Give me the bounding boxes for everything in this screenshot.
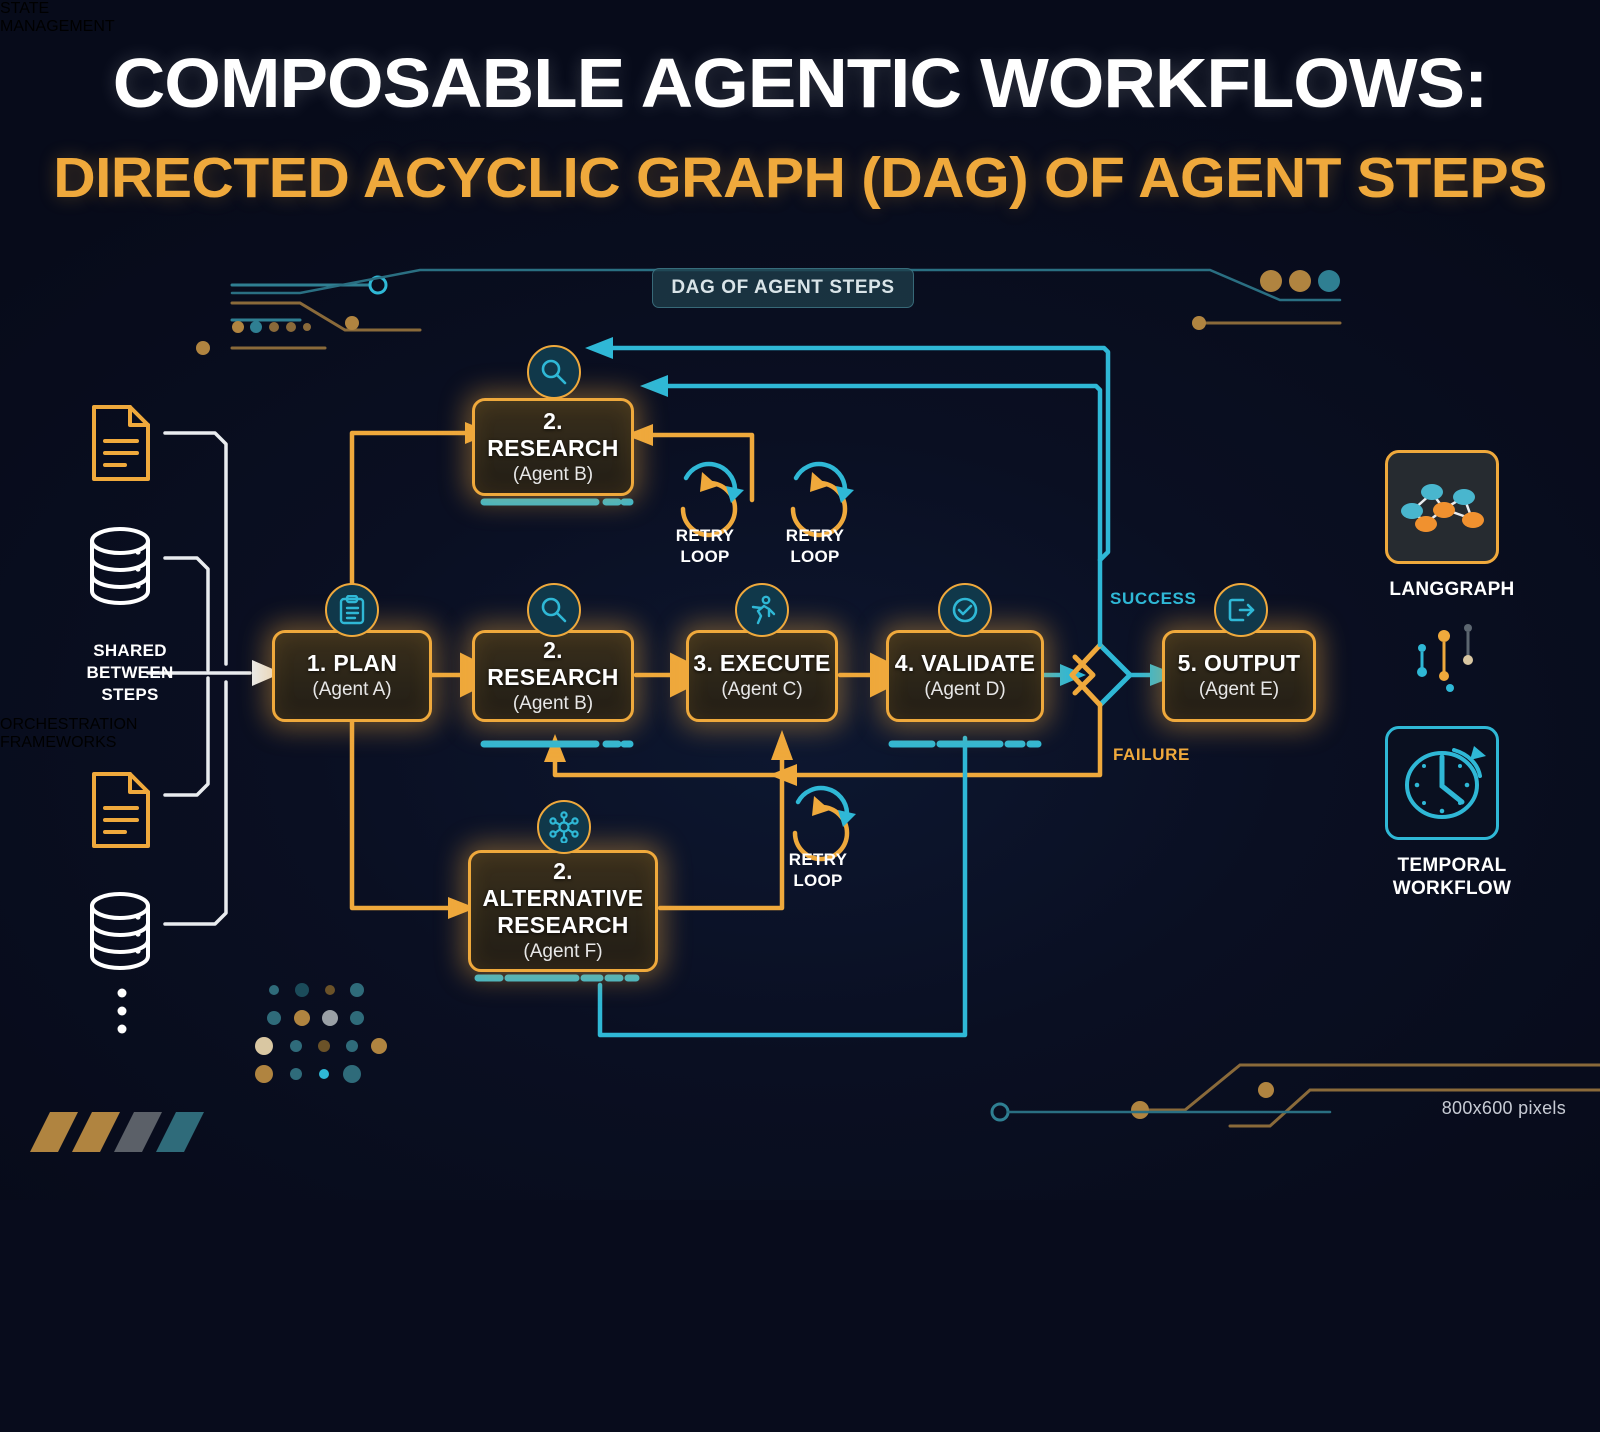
retry-label-line2: LOOP [765,546,865,567]
magnifier-icon [527,583,581,637]
retry-label-line1: RETRY [768,849,868,870]
node-title: 3. EXECUTE [693,650,830,677]
node-title: 2. RESEARCH [475,408,631,462]
state-management-heading: STATE MANAGEMENT [0,0,200,36]
node-title: 1. PLAN [307,650,397,677]
node-research[interactable]: 2. RESEARCH (Agent B) [472,630,634,722]
edge-failure-to-research [555,755,780,775]
node-validate[interactable]: 4. VALIDATE (Agent D) [886,630,1044,722]
retry-loop-label-2: RETRY LOOP [765,525,865,567]
page-title: COMPOSABLE AGENTIC WORKFLOWS: [0,48,1600,118]
clock-arrow-icon [1396,740,1488,826]
node-execute[interactable]: 3. EXECUTE (Agent C) [686,630,838,722]
node-title-line1: 2. ALTERNATIVE [471,858,655,912]
retry-label-line1: RETRY [655,525,755,546]
node-subtitle: (Agent B) [513,692,593,716]
shared-line-3: STEPS [46,684,214,706]
footer-note: 800x600 pixels [1442,1098,1566,1119]
decision-diamond [1072,645,1130,705]
node-subtitle: (Agent C) [721,678,802,702]
node-research-top[interactable]: 2. RESEARCH (Agent B) [472,398,634,496]
node-subtitle: (Agent E) [1199,678,1279,702]
dag-badge: DAG OF AGENT STEPS [652,268,914,308]
node-alternative-research[interactable]: 2. ALTERNATIVE RESEARCH (Agent F) [468,850,658,972]
divider-dots [1417,624,1473,692]
temporal-label-line1: TEMPORAL [1358,854,1546,877]
node-title-line2: RESEARCH [497,912,628,939]
retry-label-line2: LOOP [655,546,755,567]
orch-heading-line1: ORCHESTRATION [0,716,210,734]
edge-alt-research-execute [660,752,782,908]
runner-icon [735,583,789,637]
node-title: 4. VALIDATE [895,650,1035,677]
state-heading-line2: MANAGEMENT [0,18,200,36]
retry-label-line1: RETRY [765,525,865,546]
orchestration-frameworks-heading: ORCHESTRATION FRAMEWORKS [0,716,210,752]
shared-between-steps-label: SHARED BETWEEN STEPS [46,640,214,706]
infographic-canvas: COMPOSABLE AGENTIC WORKFLOWS: DIRECTED A… [0,0,1600,1200]
retry-loop-label-1: RETRY LOOP [655,525,755,567]
dot-grid [255,983,387,1083]
node-subtitle: (Agent F) [523,940,602,964]
temporal-label-line2: WORKFLOW [1358,877,1546,900]
shared-line-2: BETWEEN [46,662,214,684]
edge-success-feedback-1 [660,386,1100,645]
edge-retry-to-research-top [645,435,752,500]
clipboard-icon [325,583,379,637]
orchestration-panel [0,752,188,1432]
state-heading-line1: STATE [0,0,200,18]
node-subtitle: (Agent D) [924,678,1005,702]
exit-door-icon [1214,583,1268,637]
langgraph-label: LANGGRAPH [1358,578,1546,601]
state-management-panel [0,36,173,716]
node-output[interactable]: 5. OUTPUT (Agent E) [1162,630,1316,722]
temporal-workflow-label: TEMPORAL WORKFLOW [1358,854,1546,900]
edge-plan-alt-research [352,718,456,908]
langgraph-card[interactable] [1385,450,1499,564]
node-plan[interactable]: 1. PLAN (Agent A) [272,630,432,722]
node-title: 5. OUTPUT [1178,650,1301,677]
magnifier-icon [527,345,581,399]
temporal-workflow-card[interactable] [1385,726,1499,840]
network-graph-icon [1394,467,1490,547]
node-title: 2. RESEARCH [475,637,631,691]
node-subtitle: (Agent B) [513,463,593,487]
node-subtitle: (Agent A) [312,678,391,702]
retry-loop-label-3: RETRY LOOP [768,849,868,891]
retry-label-line2: LOOP [768,870,868,891]
orch-heading-line2: FRAMEWORKS [0,734,210,752]
shared-line-1: SHARED [46,640,214,662]
nodes-network-icon [537,800,591,854]
check-circle-icon [938,583,992,637]
failure-label: FAILURE [1113,745,1190,765]
page-subtitle: DIRECTED ACYCLIC GRAPH (DAG) OF AGENT ST… [0,148,1600,208]
success-label: SUCCESS [1110,589,1196,609]
